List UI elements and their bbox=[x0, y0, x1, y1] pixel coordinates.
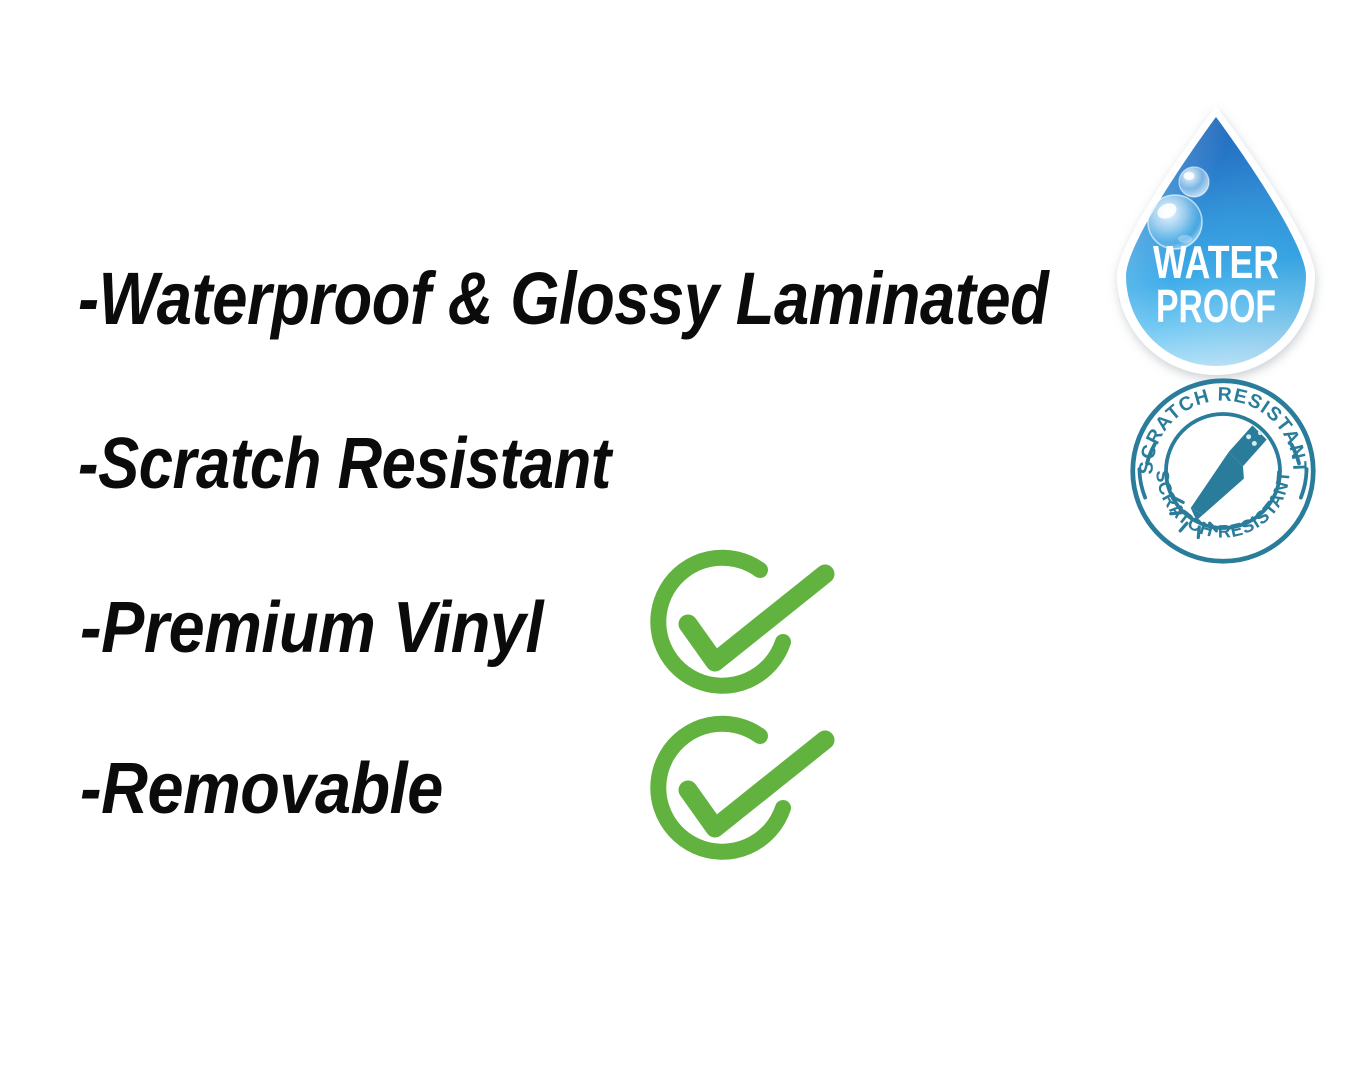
check-mark-stroke bbox=[688, 574, 825, 662]
feature-text-premium-vinyl: -Premium Vinyl bbox=[80, 592, 543, 664]
green-check-circle-icon bbox=[640, 718, 832, 878]
knife-icon bbox=[1191, 425, 1267, 520]
feature-text-removable: -Removable bbox=[80, 753, 443, 825]
feature-text-scratch-resistant: -Scratch Resistant bbox=[78, 428, 611, 500]
green-check-circle-icon bbox=[640, 552, 832, 712]
feature-text-waterproof: -Waterproof & Glossy Laminated bbox=[78, 262, 1048, 336]
waterproof-droplet-badge: WATER PROOF bbox=[1097, 100, 1335, 372]
waterproof-line-2: PROOF bbox=[1156, 280, 1276, 332]
feature-list-graphic: -Waterproof & Glossy Laminated -Scratch … bbox=[0, 0, 1359, 1080]
scratch-resistant-stamp-badge: SCRATCH RESISTANT SCRATCH RESISTANT bbox=[1128, 376, 1318, 566]
check-mark-stroke bbox=[688, 740, 825, 828]
